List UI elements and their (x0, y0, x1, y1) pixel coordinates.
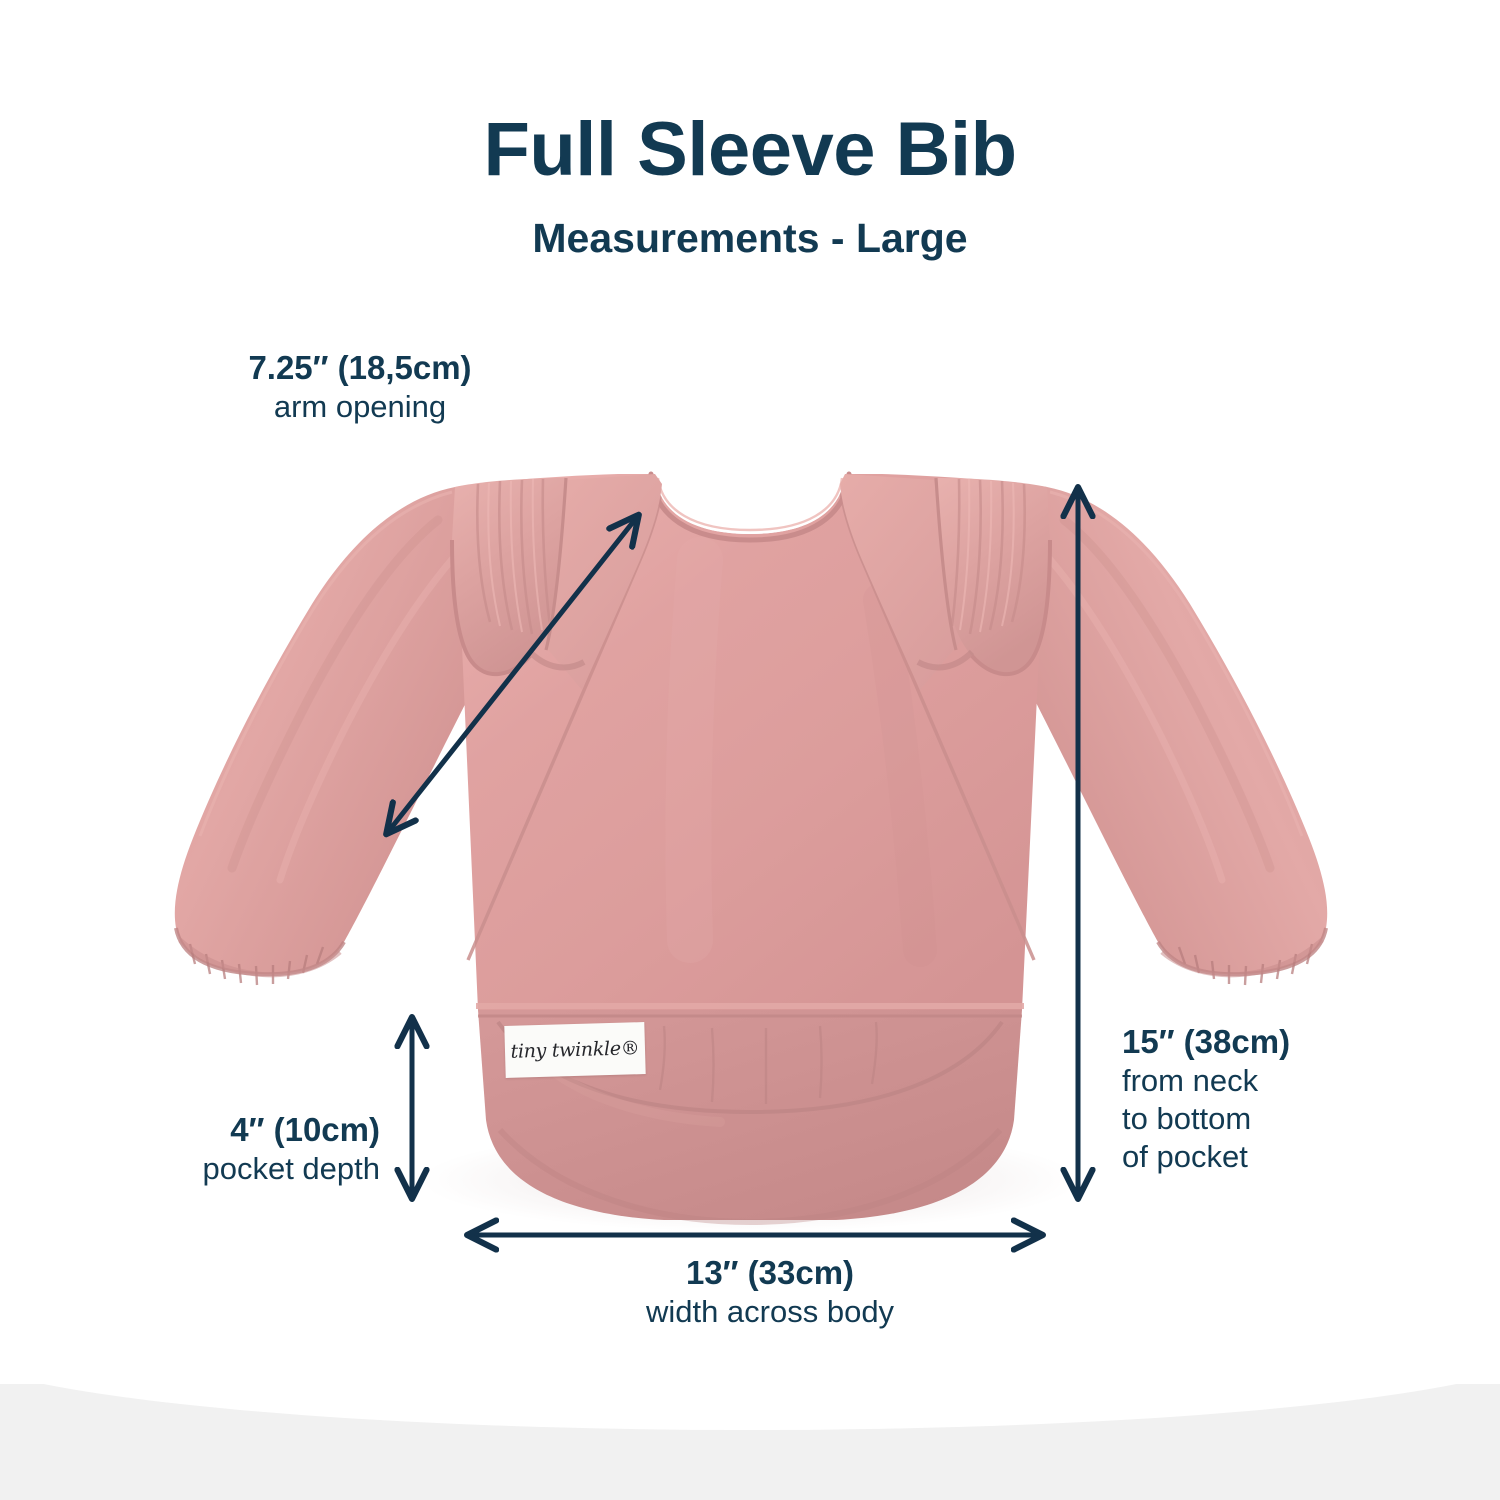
neck-to-pocket-description-line-2: to bottom (1122, 1100, 1462, 1138)
arm-opening-value: 7.25″ (18,5cm) (150, 348, 570, 388)
pocket-depth-value: 4″ (10cm) (40, 1110, 380, 1150)
brand-label: tiny twinkle® (504, 1022, 645, 1078)
brand-label-text: tiny twinkle® (510, 1037, 639, 1063)
annotation-arm-opening: 7.25″ (18,5cm) arm opening (150, 348, 570, 426)
body-sheen (688, 560, 700, 940)
pocket-depth-description: pocket depth (40, 1150, 380, 1188)
annotation-width-across-body: 13″ (33cm) width across body (545, 1253, 995, 1331)
measurement-diagram-page: Full Sleeve Bib Measurements - Large (0, 0, 1500, 1500)
arm-opening-description: arm opening (150, 388, 570, 426)
annotation-pocket-depth: 4″ (10cm) pocket depth (40, 1110, 380, 1188)
width-across-body-value: 13″ (33cm) (545, 1253, 995, 1293)
neck-to-pocket-value: 15″ (38cm) (1122, 1022, 1462, 1062)
neck-to-pocket-description-line-1: from neck (1122, 1062, 1462, 1100)
annotation-neck-to-pocket: 15″ (38cm) from neck to bottom of pocket (1122, 1022, 1462, 1176)
width-across-body-description: width across body (545, 1293, 995, 1331)
neck-to-pocket-description-line-3: of pocket (1122, 1138, 1462, 1176)
